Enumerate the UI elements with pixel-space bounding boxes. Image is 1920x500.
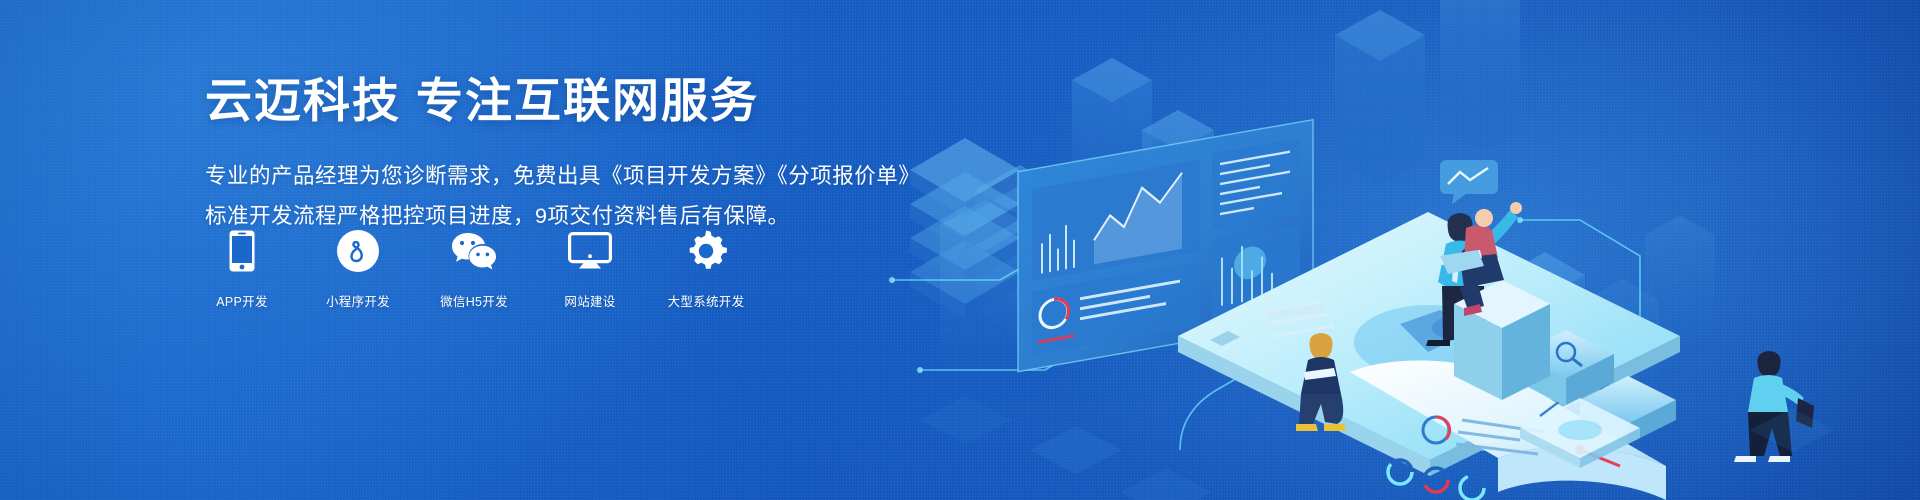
subtitle-line-1: 专业的产品经理为您诊断需求，免费出具《项目开发方案》《分项报价单》 <box>205 157 905 197</box>
service-item-app[interactable]: APP开发 <box>205 228 279 310</box>
service-label: 大型系统开发 <box>668 291 745 310</box>
mini-program-icon <box>337 228 379 274</box>
illustration-svg <box>880 0 1920 500</box>
isometric-illustration <box>880 0 1920 500</box>
chat-bubble-icon <box>1440 160 1498 204</box>
service-label: 微信H5开发 <box>440 291 508 310</box>
service-item-website[interactable]: 网站建设 <box>553 228 627 310</box>
service-label: 网站建设 <box>564 291 615 310</box>
service-item-wechat-h5[interactable]: 微信H5开发 <box>437 228 511 310</box>
hero-copy: 云迈科技 专注互联网服务 专业的产品经理为您诊断需求，免费出具《项目开发方案》《… <box>205 72 905 236</box>
service-item-mini-program[interactable]: 小程序开发 <box>321 228 395 310</box>
wechat-icon <box>451 228 497 274</box>
service-label: 小程序开发 <box>326 291 390 310</box>
desktop-monitor-icon <box>568 228 612 274</box>
service-item-large-system[interactable]: 大型系统开发 <box>669 228 743 310</box>
page-title: 云迈科技 专注互联网服务 <box>205 72 905 131</box>
mobile-phone-icon <box>229 228 255 274</box>
hero-banner: 云迈科技 专注互联网服务 专业的产品经理为您诊断需求，免费出具《项目开发方案》《… <box>0 0 1920 500</box>
server-stack <box>910 138 1020 319</box>
service-list: APP开发 小程序开发 微信 <box>205 228 743 310</box>
hero-subtitle: 专业的产品经理为您诊断需求，免费出具《项目开发方案》《分项报价单》 标准开发流程… <box>205 157 905 237</box>
gear-icon <box>685 228 727 274</box>
service-label: APP开发 <box>216 291 268 310</box>
